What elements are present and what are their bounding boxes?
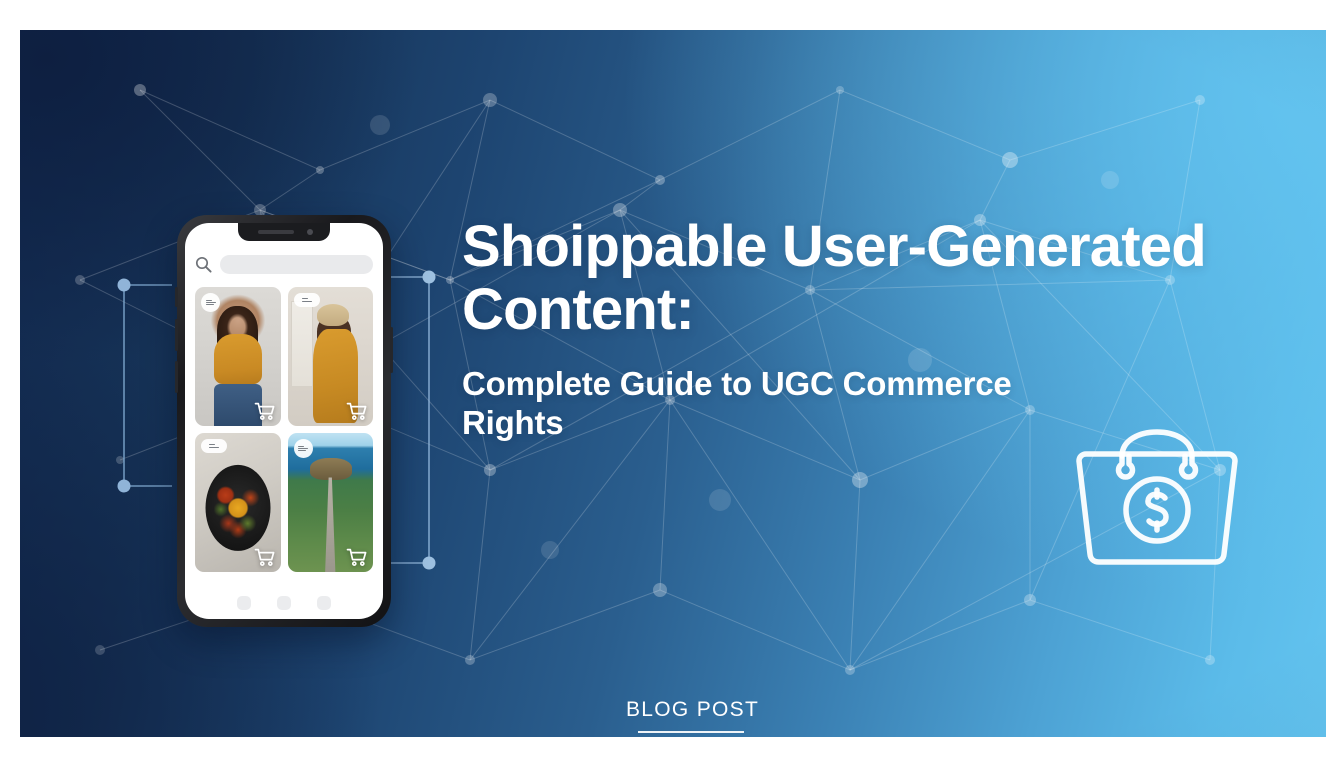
phone-mute-switch	[175, 287, 178, 307]
ugc-card-food-bowl[interactable]	[195, 433, 281, 572]
tag-badge[interactable]	[201, 439, 227, 453]
photo-detail	[325, 477, 335, 572]
cart-icon[interactable]	[254, 548, 276, 567]
phone-power-button	[390, 327, 393, 373]
phone-volume-down-button	[175, 361, 178, 393]
cart-icon[interactable]	[346, 548, 368, 567]
phone-volume-up-button	[175, 319, 178, 351]
connector-bracket-left	[112, 273, 172, 498]
tag-badge[interactable]	[294, 439, 313, 458]
search-icon	[195, 256, 212, 273]
ugc-card-woman-hat[interactable]	[288, 287, 374, 426]
photo-detail	[310, 458, 353, 480]
phone-camera-icon	[307, 229, 313, 235]
photo-detail	[317, 304, 349, 326]
blog-post-underline	[638, 731, 744, 733]
ugc-card-grid	[195, 287, 373, 572]
shopping-bag-dollar-icon	[1072, 398, 1242, 578]
nav-dot-2[interactable]	[277, 596, 291, 610]
blog-post-label: BLOG POST	[626, 698, 756, 722]
page-title: Shoippable User-Generated Content:	[462, 216, 1252, 341]
search-input[interactable]	[220, 255, 373, 274]
ugc-card-coastal-view[interactable]	[288, 433, 374, 572]
phone-speaker-icon	[258, 230, 294, 234]
tag-badge[interactable]	[201, 293, 220, 312]
photo-detail	[291, 301, 313, 387]
screenshot-stage: Shoippable User-Generated Content: Compl…	[0, 0, 1344, 768]
blog-post-label-group[interactable]: BLOG POST	[626, 698, 756, 733]
blog-hero-banner: Shoippable User-Generated Content: Compl…	[20, 30, 1326, 737]
tag-badge-icon	[298, 444, 308, 452]
tag-badge[interactable]	[294, 293, 320, 307]
nav-dot-3[interactable]	[317, 596, 331, 610]
tag-badge-icon	[206, 298, 216, 306]
nav-dot-1[interactable]	[237, 596, 251, 610]
phone-mockup	[177, 215, 391, 627]
cart-icon[interactable]	[254, 402, 276, 421]
tag-badge-icon	[209, 443, 219, 449]
phone-notch	[238, 223, 330, 241]
photo-detail	[214, 476, 262, 540]
photo-detail	[217, 306, 258, 359]
app-screen	[185, 223, 383, 619]
phone-screen	[185, 223, 383, 619]
cart-icon[interactable]	[346, 402, 368, 421]
page-subtitle: Complete Guide to UGC Commerce Rights	[462, 365, 1102, 443]
tag-badge-icon	[302, 297, 312, 303]
phone-body	[177, 215, 391, 627]
ugc-card-woman-coffee[interactable]	[195, 287, 281, 426]
bottom-nav	[185, 596, 383, 610]
search-bar[interactable]	[195, 251, 373, 277]
